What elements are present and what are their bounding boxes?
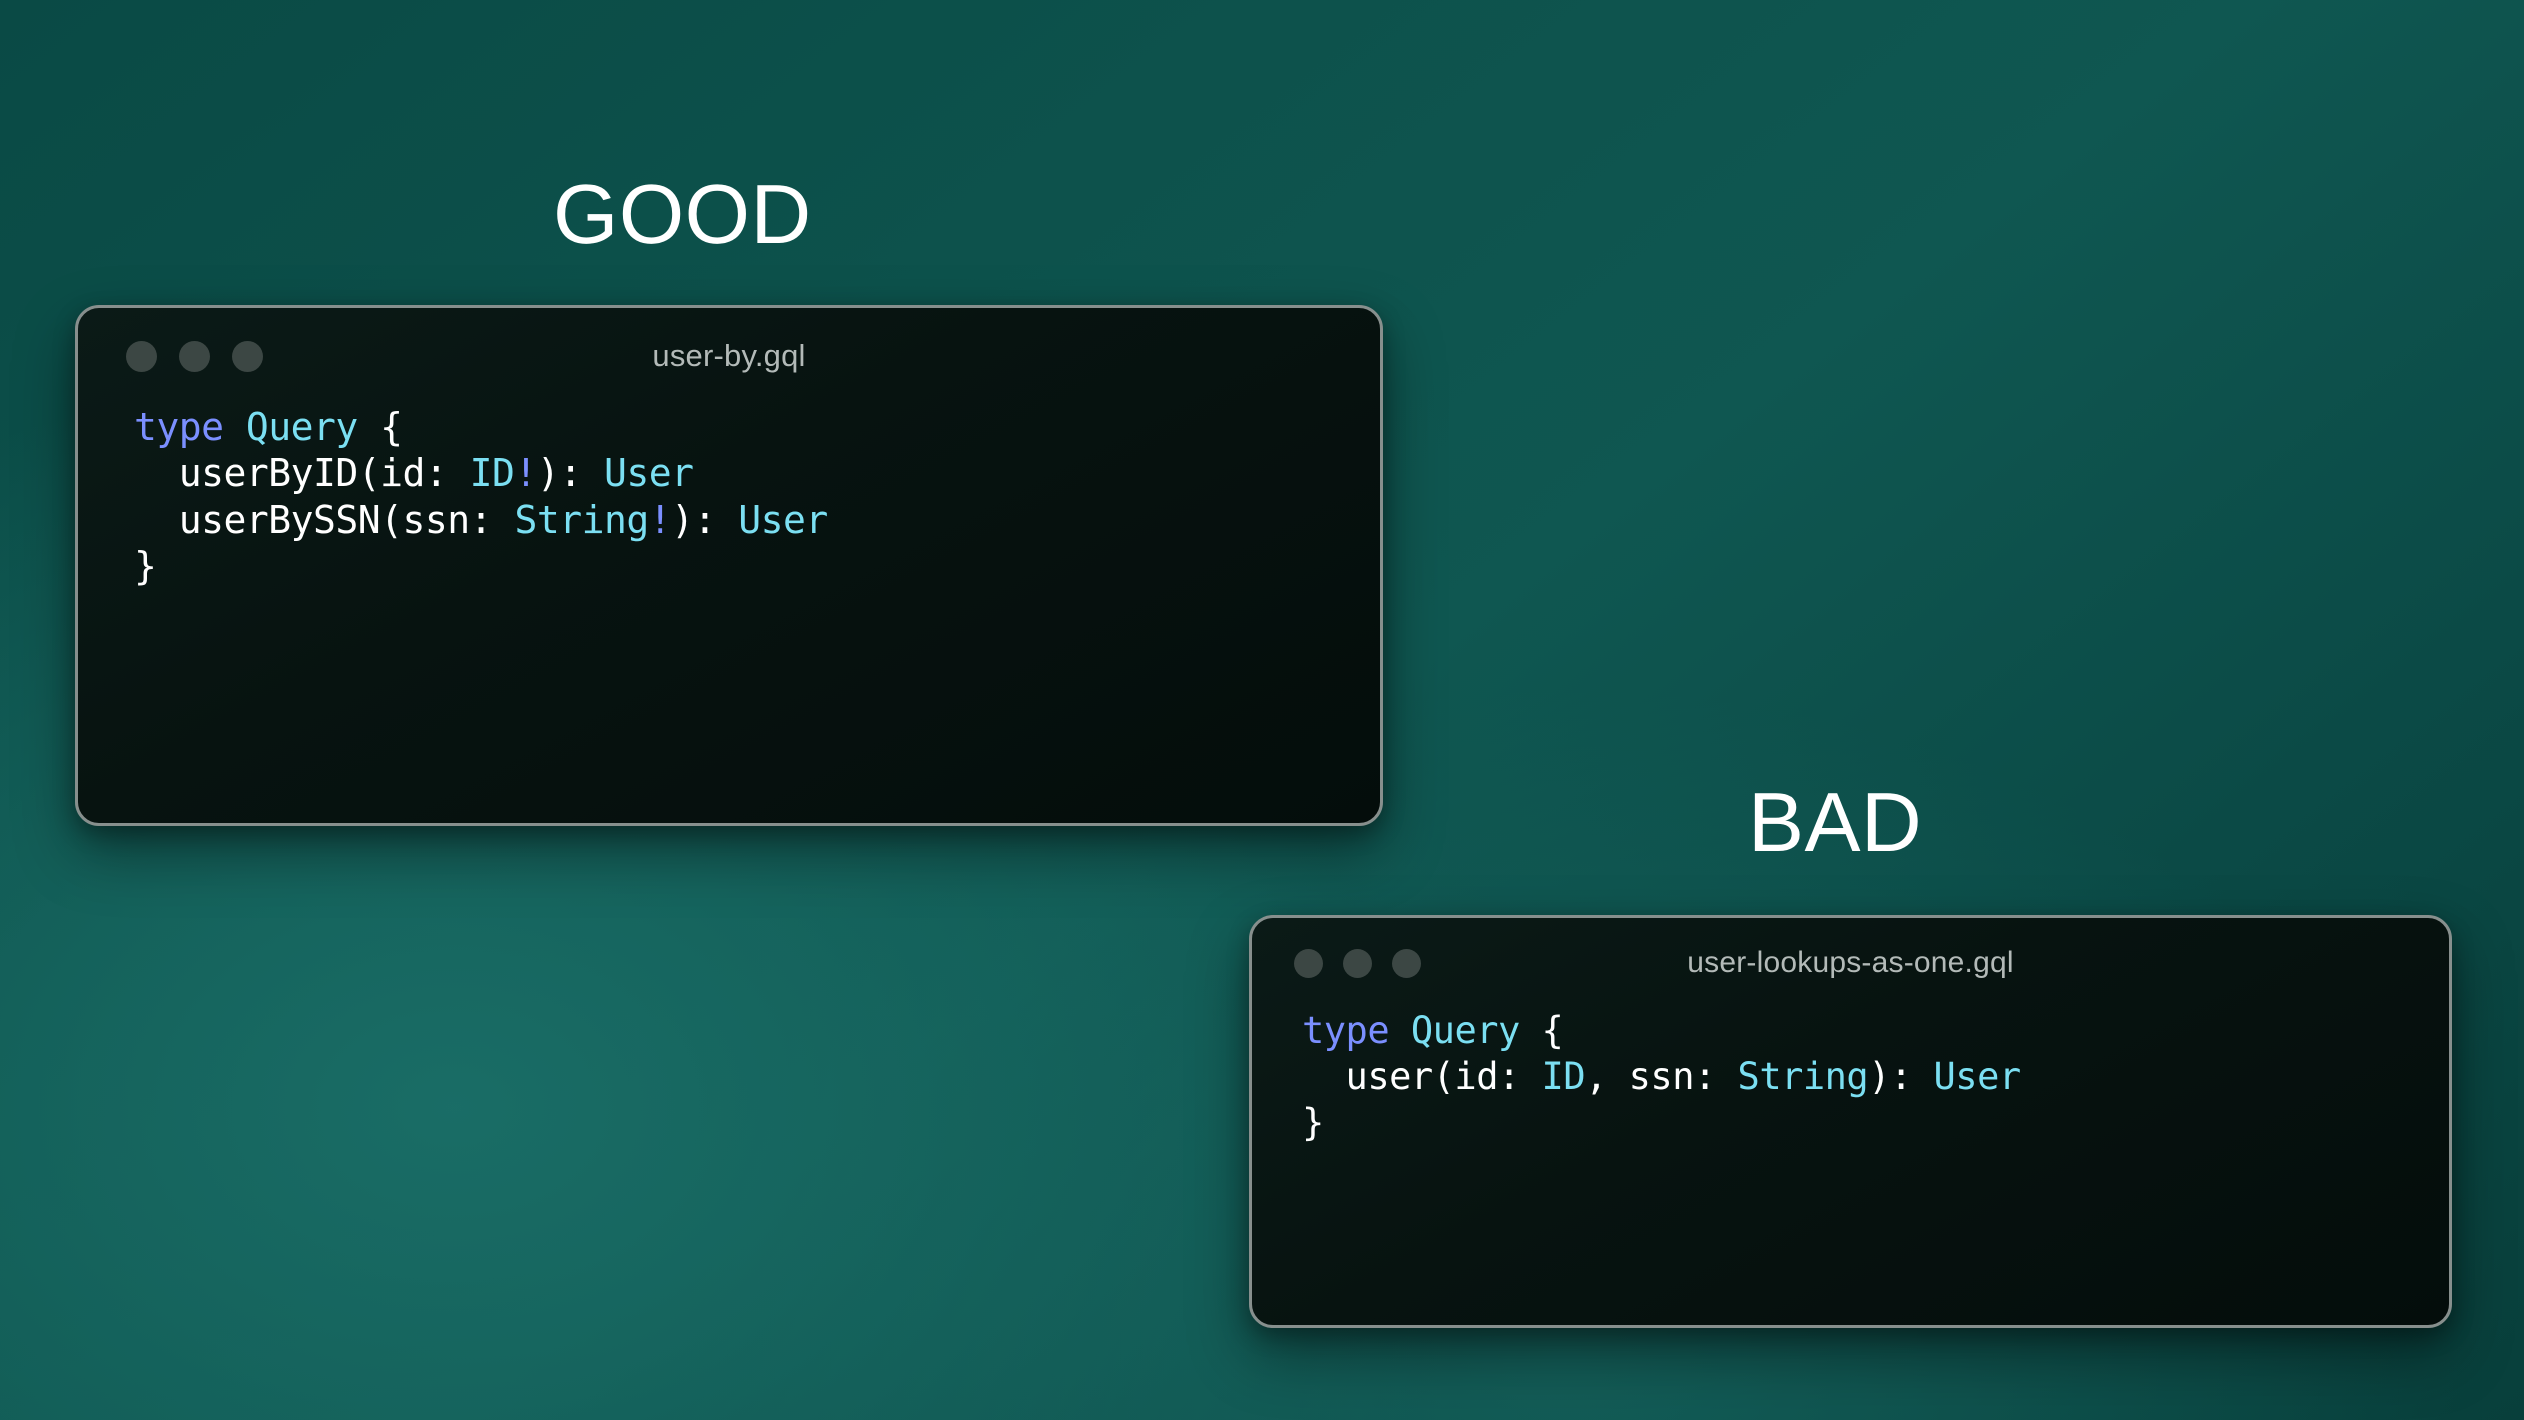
code-token: Query [1411, 1009, 1520, 1052]
code-line: userByID(id: ID!): User [134, 450, 1380, 496]
close-dot-icon[interactable] [126, 341, 157, 372]
code-token: ID [470, 451, 515, 495]
code-token: ): [671, 498, 738, 542]
code-token: userBySSN(ssn: [134, 498, 514, 542]
code-token [1389, 1009, 1411, 1052]
code-token: ! [514, 451, 536, 495]
code-token: user(id: [1302, 1055, 1542, 1098]
code-token: ! [649, 498, 671, 542]
maximize-dot-icon[interactable] [1392, 949, 1421, 978]
code-token: User [604, 451, 694, 495]
code-block-bad: type Query { user(id: ID, ssn: String): … [1252, 1008, 2449, 1146]
code-token: User [738, 498, 828, 542]
code-token: } [134, 544, 156, 588]
minimize-dot-icon[interactable] [179, 341, 210, 372]
verdict-label-good: GOOD [553, 172, 812, 256]
window-filename: user-lookups-as-one.gql [1252, 946, 2449, 980]
code-token: { [358, 405, 403, 449]
code-window-bad: user-lookups-as-one.gql type Query { use… [1249, 915, 2452, 1328]
close-dot-icon[interactable] [1294, 949, 1323, 978]
code-token: , ssn: [1585, 1055, 1737, 1098]
window-controls [126, 341, 263, 372]
code-window-good: user-by.gql type Query { userByID(id: ID… [75, 305, 1383, 826]
window-titlebar: user-by.gql [78, 308, 1380, 404]
verdict-label-bad: BAD [1748, 780, 1922, 864]
code-line: type Query { [134, 404, 1380, 450]
code-line: } [1302, 1100, 2449, 1146]
minimize-dot-icon[interactable] [1343, 949, 1372, 978]
window-controls [1294, 949, 1421, 978]
code-line: } [134, 543, 1380, 589]
code-token: ): [1868, 1055, 1933, 1098]
code-token: String [514, 498, 648, 542]
code-token: Query [246, 405, 358, 449]
code-token [224, 405, 246, 449]
maximize-dot-icon[interactable] [232, 341, 263, 372]
code-line: type Query { [1302, 1008, 2449, 1054]
code-token: type [1302, 1009, 1389, 1052]
code-token: type [134, 405, 224, 449]
code-block-good: type Query { userByID(id: ID!): User use… [78, 404, 1380, 589]
code-token: ): [537, 451, 604, 495]
code-token: String [1738, 1055, 1869, 1098]
code-token: User [1934, 1055, 2021, 1098]
code-token: { [1520, 1009, 1564, 1052]
code-line: userBySSN(ssn: String!): User [134, 497, 1380, 543]
window-titlebar: user-lookups-as-one.gql [1252, 918, 2449, 1008]
code-line: user(id: ID, ssn: String): User [1302, 1054, 2449, 1100]
window-filename: user-by.gql [78, 338, 1380, 374]
code-token: ID [1542, 1055, 1586, 1098]
comparison-canvas: GOOD user-by.gql type Query { userByID(i… [0, 0, 2524, 1420]
code-token: } [1302, 1101, 1324, 1144]
code-token: userByID(id: [134, 451, 470, 495]
